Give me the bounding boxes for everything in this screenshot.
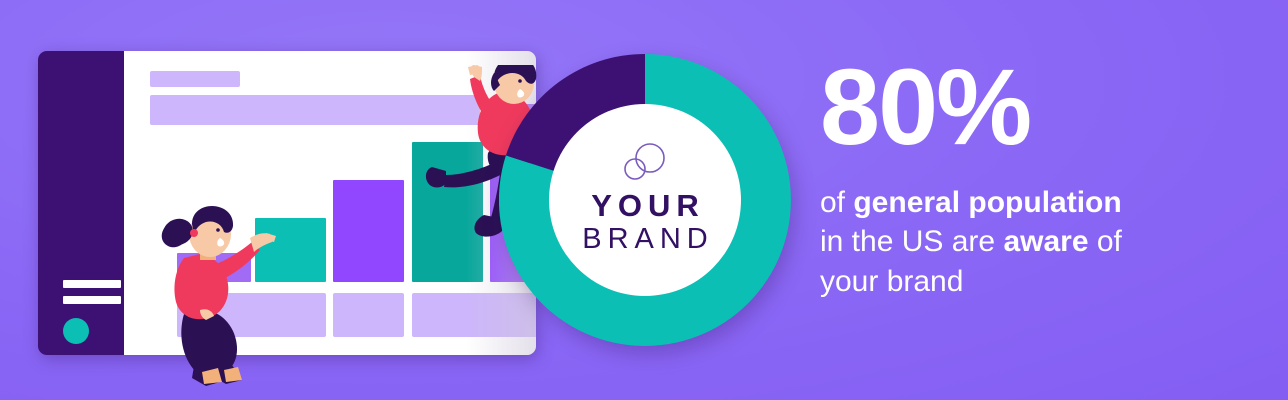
logo-line-your: YOUR bbox=[585, 190, 705, 221]
axis-label-placeholder-3 bbox=[333, 293, 404, 337]
logo-line-brand: BRAND bbox=[576, 221, 714, 257]
infographic-banner: YOUR BRAND 80% of general population in … bbox=[0, 0, 1288, 400]
character-woman-pointing bbox=[148, 206, 278, 391]
dashboard-illustration bbox=[38, 51, 536, 355]
hamburger-lines-icon[interactable] bbox=[63, 280, 121, 288]
title-placeholder-bar bbox=[150, 71, 240, 87]
statistic-block: 80% of general population in the US are … bbox=[820, 56, 1250, 301]
teal-dot-icon[interactable] bbox=[63, 318, 89, 344]
stat-description: of general population in the US are awar… bbox=[820, 183, 1250, 302]
bar-chart-bar-3 bbox=[333, 180, 404, 282]
stat-desc-line1-plain: of bbox=[820, 186, 853, 219]
stat-desc-line1-bold: general population bbox=[853, 186, 1121, 219]
donut-center-logo: YOUR BRAND bbox=[549, 104, 741, 296]
two-overlapping-circles-icon bbox=[619, 142, 671, 182]
stat-desc-line2-plain-b: of bbox=[1089, 225, 1122, 258]
dashboard-sidebar bbox=[38, 51, 126, 355]
stat-percentage: 80% bbox=[820, 56, 1250, 159]
stat-desc-line3: your brand bbox=[820, 265, 963, 298]
stat-desc-line2-plain-a: in the US are bbox=[820, 225, 1003, 258]
donut-chart: YOUR BRAND bbox=[499, 54, 791, 346]
hamburger-lines-icon-second[interactable] bbox=[63, 296, 121, 304]
stat-desc-line2-bold: aware bbox=[1003, 225, 1088, 258]
